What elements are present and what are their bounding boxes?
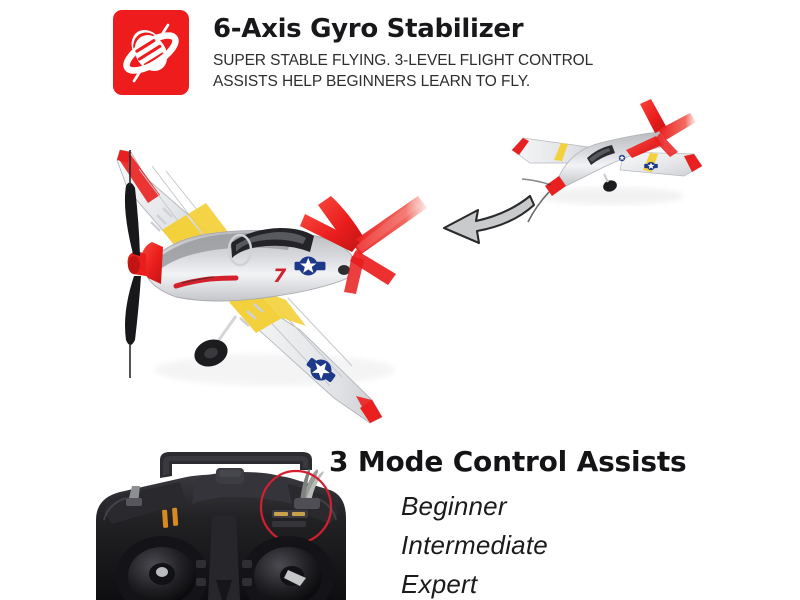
product-feature-graphic: 7 [0, 0, 800, 600]
feature-subtitle: SUPER STABLE FLYING. 3-LEVEL FLIGHT CONT… [213, 50, 643, 92]
rc-airplane-main: 7 [117, 150, 427, 423]
feature-subtitle-line-1: SUPER STABLE FLYING. 3-LEVEL FLIGHT CONT… [213, 50, 643, 71]
flight-mode-switch [272, 469, 324, 527]
curved-arrow [444, 196, 534, 243]
feature-subtitle-line-2: ASSISTS HELP BEGINNERS LEARN TO FLY. [213, 71, 643, 92]
modes-list: Beginner Intermediate Expert [401, 487, 548, 600]
rc-airplane-secondary [512, 99, 702, 222]
highlight-circle [261, 471, 331, 543]
mode-item-intermediate: Intermediate [401, 526, 548, 565]
mode-item-beginner: Beginner [401, 487, 548, 526]
rc-transmitter [96, 452, 346, 600]
svg-text:7: 7 [273, 265, 287, 287]
modes-title: 3 Mode Control Assists [329, 445, 687, 478]
mode-item-expert: Expert [401, 565, 548, 600]
gyro-stabilizer-icon [113, 10, 189, 95]
gyro-glyph [113, 10, 189, 95]
feature-title: 6-Axis Gyro Stabilizer [213, 14, 523, 44]
